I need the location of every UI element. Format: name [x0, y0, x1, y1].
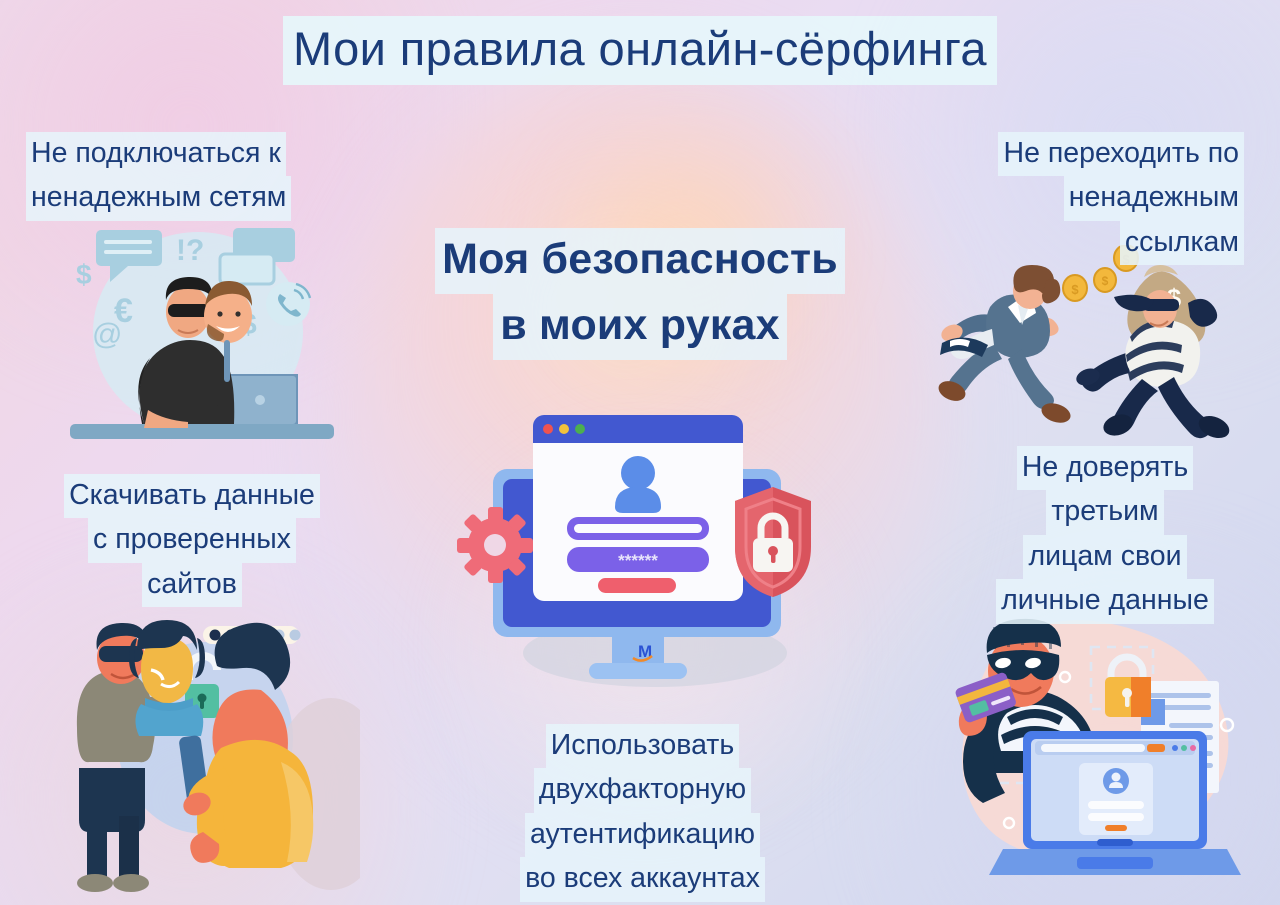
illustration-thief-chase: $ $ $ $: [930, 245, 1275, 450]
login-submit-button[interactable]: [1105, 825, 1127, 831]
window-maximize-dot[interactable]: [575, 424, 585, 434]
at-symbol-icon: @: [92, 318, 122, 351]
login-username-field[interactable]: [1088, 801, 1144, 809]
password-mask-text: ******: [618, 551, 658, 570]
illustration-social-engineering: [45, 608, 360, 900]
window-minimize-dot[interactable]: [559, 424, 569, 434]
businessman-figure: [936, 265, 1073, 426]
illustration-secure-login-monitor: M: [455, 395, 845, 695]
svg-text:$: $: [1102, 274, 1109, 288]
laptop-trackpad-notch: [1097, 839, 1133, 846]
username-field[interactable]: [567, 517, 709, 540]
rule-untrusted-networks: Не подключаться к ненадежным сетям: [26, 132, 376, 221]
mask-handle: [224, 340, 230, 382]
rule-line: третьим: [1046, 490, 1163, 534]
illustration-card-thief-laptop: [945, 605, 1270, 900]
page-title-text: Мои правила онлайн-сёрфинга: [283, 16, 997, 85]
rule-line: ссылкам: [1120, 221, 1244, 265]
svg-text:$: $: [1071, 282, 1079, 297]
rule-verified-sites: Скачивать данные с проверенных сайтов: [22, 474, 362, 607]
illustration-hacker-with-mask: !? $ € @ $: [48, 212, 368, 462]
dollar-symbol-icon: $: [76, 259, 92, 290]
login-submit-button[interactable]: [598, 578, 676, 593]
thief-figure: [1074, 290, 1232, 442]
exclamation-question-icon: !?: [176, 234, 204, 267]
rule-line: двухфакторную: [534, 768, 751, 812]
shoe-icon: [113, 874, 149, 892]
laptop-login-card: [1079, 763, 1153, 835]
shield-lock-icon: [735, 487, 811, 597]
center-heading: Моя безопасность в моих руках: [330, 228, 950, 360]
center-heading-line-2: в моих руках: [493, 294, 787, 360]
rule-line: Не доверять: [1017, 446, 1193, 490]
rule-line: с проверенных: [88, 518, 296, 562]
gear-icon: [457, 507, 533, 583]
rule-line: Не переходить по: [998, 132, 1244, 176]
login-password-field[interactable]: [1088, 813, 1144, 821]
eye-mask-icon: [99, 646, 143, 662]
center-heading-line-1: Моя безопасность: [435, 228, 845, 294]
rule-third-parties: Не доверять третьим лицам свои личные да…: [950, 446, 1260, 624]
page-title: Мои правила онлайн-сёрфинга: [0, 16, 1280, 85]
rule-line: Использовать: [546, 724, 739, 768]
rule-untrusted-links: Не переходить по ненадежным ссылкам: [914, 132, 1244, 265]
gold-coin-icon: $: [1063, 275, 1087, 301]
shoe-icon: [77, 874, 113, 892]
desk-surface: [70, 424, 334, 439]
browser-address-bar[interactable]: [1041, 744, 1145, 752]
infographic-poster: Мои правила онлайн-сёрфинга Моя безопасн…: [0, 0, 1280, 905]
rule-line: во всех аккаунтах: [520, 857, 765, 901]
laptop-icon: [989, 731, 1241, 875]
rule-line: Скачивать данные: [64, 474, 320, 518]
rule-line: Не подключаться к: [26, 132, 286, 176]
password-field[interactable]: ******: [567, 547, 709, 572]
rule-line: личные данные: [996, 579, 1214, 623]
gold-coin-icon: $: [1094, 268, 1116, 292]
rule-line: ненадежным сетям: [26, 176, 291, 220]
login-window: ******: [533, 415, 743, 601]
rule-line: лицам свои: [1023, 535, 1186, 579]
rule-line: ненадежным: [1064, 176, 1244, 220]
hacker-eye-mask-icon: [168, 304, 210, 317]
rule-line: сайтов: [142, 563, 242, 607]
window-close-dot[interactable]: [543, 424, 553, 434]
rule-two-factor-auth: Использовать двухфакторную аутентификаци…: [470, 724, 815, 902]
rule-line: аутентификацию: [525, 813, 760, 857]
phone-icon: [266, 282, 310, 326]
